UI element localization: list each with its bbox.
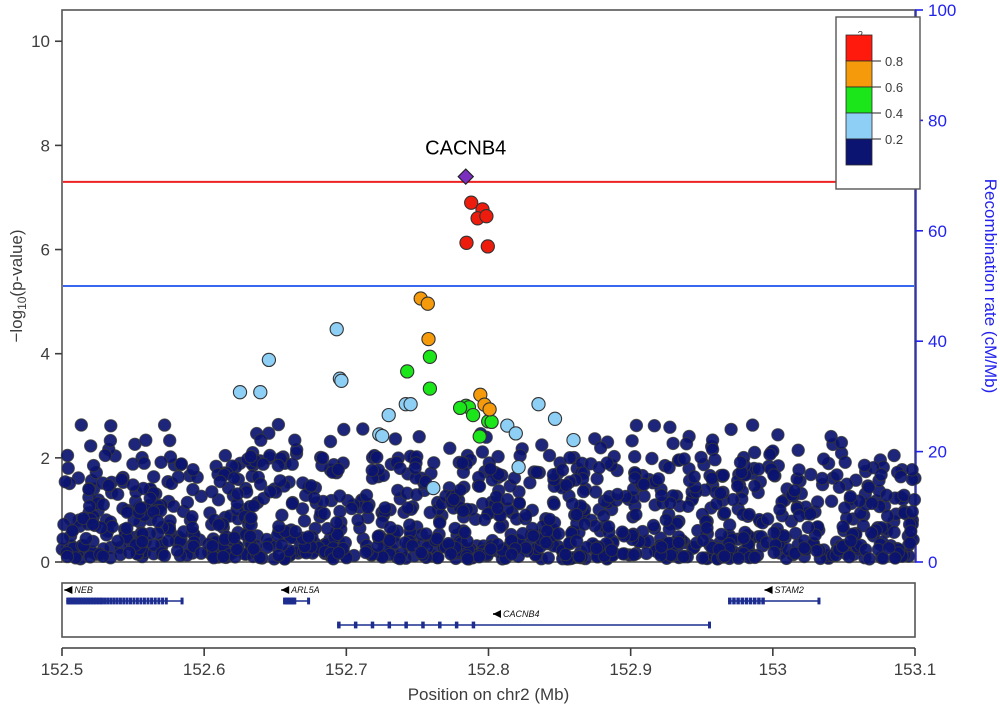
snp-point-background [630, 419, 642, 431]
legend-swatch[interactable] [846, 35, 872, 61]
snp-point-background [155, 456, 167, 468]
snp-point-background [389, 433, 401, 445]
snp-point-background [478, 513, 490, 525]
snp-point-background [858, 459, 870, 471]
snp-point-background [749, 551, 761, 563]
snp-point-background [717, 469, 729, 481]
snp-point-background [595, 442, 607, 454]
snp-point-background [564, 452, 576, 464]
legend-swatch[interactable] [846, 139, 872, 165]
snp-point-background [905, 525, 917, 537]
legend-swatch[interactable] [846, 61, 872, 87]
snp-point-background [434, 517, 446, 529]
snp-point-background [593, 462, 605, 474]
snp-point-background [257, 458, 269, 470]
snp-point [422, 333, 435, 346]
legend: r20.80.60.40.2 [836, 17, 920, 189]
gene-exon [126, 598, 129, 605]
snp-point-background [228, 532, 240, 544]
snp-point-background [802, 521, 814, 533]
snp-point-background [682, 500, 694, 512]
snp-point-background [542, 552, 554, 564]
snp-point-background [83, 483, 95, 495]
snp-point [335, 374, 348, 387]
snp-point-background [152, 515, 164, 527]
y2-tick-label: 100 [928, 1, 956, 20]
snp-point-background [332, 547, 344, 559]
snp-point [512, 461, 525, 474]
snp-point-background [424, 506, 436, 518]
snp-point-background [461, 553, 473, 565]
legend-swatch[interactable] [846, 113, 872, 139]
snp-point-background [127, 479, 139, 491]
snp-point-background [655, 541, 667, 553]
snp-point-background [231, 488, 243, 500]
snp-point-background [629, 451, 641, 463]
snp-point-background [667, 437, 679, 449]
gene-exon [293, 598, 297, 605]
snp-point-background [603, 521, 615, 533]
snp-point-background [334, 490, 346, 502]
snp-point-background [865, 527, 877, 539]
snp-point [376, 429, 389, 442]
snp-point-background [158, 550, 170, 562]
snp-point-background [513, 497, 525, 509]
legend-bin-label: 0.4 [885, 106, 903, 121]
snp-point-background [276, 509, 288, 521]
snp-point-background [394, 462, 406, 474]
snp-point-background [384, 521, 396, 533]
snp-point-background [136, 536, 148, 548]
snp-point-background [706, 472, 718, 484]
snp-point-background [372, 530, 384, 542]
x-tick-label: 152.7 [325, 660, 368, 679]
snp-point-background [415, 546, 427, 558]
snp-point-background [647, 519, 659, 531]
snp-point [427, 482, 440, 495]
snp-point-background [590, 486, 602, 498]
snp-point-background [144, 492, 156, 504]
y2-tick-label: 60 [928, 222, 947, 241]
gene-exon [122, 598, 125, 605]
snp-point-background [839, 502, 851, 514]
gene-exon [154, 598, 157, 605]
gene-name-label: CACNB4 [503, 609, 540, 619]
gene-exon [109, 598, 112, 605]
x-tick-label: 153 [759, 660, 787, 679]
y2-tick-label: 80 [928, 111, 947, 130]
snp-point-background [445, 548, 457, 560]
snp-point-background [548, 498, 560, 510]
snp-point-background [213, 519, 225, 531]
snp-point-background [357, 423, 369, 435]
x-tick-label: 152.6 [183, 660, 226, 679]
snp-point-background [839, 456, 851, 468]
snp-point-background [371, 451, 383, 463]
snp-point-background [746, 419, 758, 431]
snp-point-background [605, 544, 617, 556]
snp-point-background [825, 495, 837, 507]
snp-point-background [734, 456, 746, 468]
snp-point-background [62, 462, 74, 474]
snp-point [254, 386, 267, 399]
snp-point-background [338, 423, 350, 435]
snp-point-background [663, 461, 675, 473]
snp-point [548, 412, 561, 425]
gene-exon [736, 598, 740, 605]
snp-point-background [559, 548, 571, 560]
gene-exon [150, 598, 153, 605]
snp-point-background [112, 535, 124, 547]
gene-exon [307, 598, 310, 605]
gene-exon [472, 622, 476, 629]
snp-point-background [102, 479, 114, 491]
snp-point-background [379, 502, 391, 514]
snp-point-background [476, 446, 488, 458]
snp-point-background [541, 525, 553, 537]
plot-svg: 0246810−log10(p-value)020406080100Recomb… [0, 0, 1000, 705]
snp-point-background [148, 471, 160, 483]
x-axis: 152.5152.6152.7152.8152.9153153.1Positio… [41, 648, 937, 704]
snp-point-background [123, 546, 135, 558]
snp-point-background [332, 463, 344, 475]
snp-point-background [404, 519, 416, 531]
gene-exon [761, 598, 765, 605]
snp-point-background [648, 420, 660, 432]
snp-point [382, 409, 395, 422]
snp-point-background [324, 435, 336, 447]
snp-point-background [701, 522, 713, 534]
snp-point-background [187, 483, 199, 495]
gene-exon [106, 598, 109, 605]
snp-point-background [906, 464, 918, 476]
snp-point-background [514, 450, 526, 462]
snp-point-background [121, 506, 133, 518]
snp-point-background [75, 419, 87, 431]
snp-point-background [680, 438, 692, 450]
snp-point-background [696, 552, 708, 564]
gene-exon [388, 622, 392, 629]
gene-exon [129, 598, 132, 605]
gene-exon [745, 598, 749, 605]
x-tick-label: 152.5 [41, 660, 84, 679]
snp-point-background [459, 526, 471, 538]
snp-point-background [552, 528, 564, 540]
snp-point-background [457, 505, 469, 517]
gene-exon [143, 598, 146, 605]
gene-exon [371, 622, 375, 629]
gene-exon [354, 622, 358, 629]
snp-point-background [774, 503, 786, 515]
snp-point-background [272, 459, 284, 471]
snp-point-background [366, 464, 378, 476]
gene-exon [749, 598, 753, 605]
gene-name-label: STAM2 [775, 585, 804, 595]
snp-point-background [752, 463, 764, 475]
snp-point-background [837, 521, 849, 533]
gene-exon [100, 598, 103, 605]
snp-point-background [171, 545, 183, 557]
legend-bin-label: 0.2 [885, 132, 903, 147]
snp-point-background [560, 479, 572, 491]
snp-point-background [473, 551, 485, 563]
snp-point-background [448, 493, 460, 505]
snp-point-background [181, 496, 193, 508]
x-tick-label: 152.8 [467, 660, 510, 679]
snp-point-background [743, 508, 755, 520]
snp-point-background [793, 510, 805, 522]
gene-exon [161, 598, 164, 605]
x-axis-label: Position on chr2 (Mb) [408, 685, 570, 704]
gene-exon [139, 598, 142, 605]
gene-name-label: ARL5A [290, 585, 320, 595]
snp-point-background [688, 471, 700, 483]
snp-point-background [863, 481, 875, 493]
snp-point-background [85, 440, 97, 452]
snp-point-background [298, 515, 310, 527]
snp-point-background [906, 506, 918, 518]
snp-point-background [908, 494, 920, 506]
snp-point-background [543, 513, 555, 525]
snp-point-background [289, 434, 301, 446]
snp-point-background [305, 480, 317, 492]
gene-track-panel: NEBARL5ACACNB4STAM2 [62, 583, 915, 637]
snp-point-background [816, 472, 828, 484]
gene-exon [116, 598, 119, 605]
gene-exon [157, 598, 160, 605]
snp-point-background [134, 502, 146, 514]
snp-point [423, 350, 436, 363]
snp-point-background [59, 476, 71, 488]
snp-point-background [245, 450, 257, 462]
snp-point-background [664, 421, 676, 433]
snp-point-background [104, 434, 116, 446]
snp-point-background [302, 531, 314, 543]
snp-point [233, 386, 246, 399]
snp-point-background [162, 535, 174, 547]
snp-point-background [272, 549, 284, 561]
snp-point-background [273, 520, 285, 532]
snp-point-background [272, 418, 284, 430]
snp-point-background [768, 469, 780, 481]
snp-point-background [138, 457, 150, 469]
snp-point-background [749, 480, 761, 492]
gene-exon [708, 622, 711, 629]
snp-point-background [428, 457, 440, 469]
snp-point-background [793, 464, 805, 476]
snp-point-background [87, 459, 99, 471]
snp-point-background [97, 498, 109, 510]
snp-point-background [186, 522, 198, 534]
snp-point [454, 401, 467, 414]
snp-point-background [695, 451, 707, 463]
snp-point-background [845, 535, 857, 547]
snp-point-background [473, 480, 485, 492]
snp-point-background [187, 464, 199, 476]
snp-point [480, 210, 493, 223]
gene-exon [112, 598, 115, 605]
snp-point-background [345, 502, 357, 514]
snp-point-background [737, 532, 749, 544]
snp-point-background [352, 514, 364, 526]
snp-point-background [880, 489, 892, 501]
gene-exon [404, 622, 408, 629]
y-axis-left: 0246810 [31, 32, 62, 572]
snp-point-background [318, 508, 330, 520]
y-tick-label: 8 [41, 136, 50, 155]
snp-point-background [121, 522, 133, 534]
snp-point-background [248, 500, 260, 512]
snp-point-background [889, 552, 901, 564]
snp-point-background [626, 435, 638, 447]
gene-exon [732, 598, 736, 605]
snp-point-background [66, 525, 78, 537]
snp-point-background [490, 491, 502, 503]
snp-point-background [217, 551, 229, 563]
snp-point-background [99, 449, 111, 461]
snp-point-background [660, 514, 672, 526]
snp-point-background [331, 516, 343, 528]
snp-point-background [248, 543, 260, 555]
snp-point-background [788, 484, 800, 496]
legend-bin-label: 0.6 [885, 80, 903, 95]
snp-point [567, 434, 580, 447]
snp-point-background [87, 518, 99, 530]
snp-point-background [384, 534, 396, 546]
snp-point-background [527, 530, 539, 542]
y2-tick-label: 20 [928, 443, 947, 462]
snp-point-background [835, 436, 847, 448]
snp-point-background [413, 431, 425, 443]
lead-snp-label: CACNB4 [425, 138, 506, 160]
snp-point-background [611, 488, 623, 500]
legend-bin-label: 0.8 [885, 54, 903, 69]
snp-point-background [638, 478, 650, 490]
y-axis-right: 020406080100Recombination rate (cM/Mb) [915, 1, 1000, 572]
snp-point-background [630, 508, 642, 520]
snp-point-background [833, 481, 845, 493]
snp-point-background [116, 473, 128, 485]
snp-point-background [80, 532, 92, 544]
snp-point-background [492, 502, 504, 514]
snp-point-background [866, 497, 878, 509]
snp-point-background [677, 551, 689, 563]
y-tick-label: 0 [41, 553, 50, 572]
snp-point-background [360, 489, 372, 501]
y2-axis-label: Recombination rate (cM/Mb) [981, 179, 1000, 393]
y2-tick-label: 0 [928, 553, 937, 572]
snp-point-background [655, 489, 667, 501]
snp-point-background [164, 434, 176, 446]
snp-point-background [409, 462, 421, 474]
snp-point-background [244, 530, 256, 542]
snp-point-background [818, 453, 830, 465]
snp-point-background [577, 485, 589, 497]
gene-exon [165, 598, 168, 605]
snp-point-background [264, 486, 276, 498]
snp-point-background [888, 449, 900, 461]
locuszoom-plot: 0246810−log10(p-value)020406080100Recomb… [0, 0, 1000, 705]
y-axis-label: −log10(p-value) [7, 229, 29, 342]
snp-point [460, 236, 473, 249]
snp-point-background [206, 486, 218, 498]
snp-point-background [725, 423, 737, 435]
snp-point-background [175, 458, 187, 470]
snp-point-background [158, 419, 170, 431]
snp-point-background [494, 521, 506, 533]
snp-point [485, 415, 498, 428]
x-tick-label: 153.1 [894, 660, 937, 679]
gene-exon [103, 598, 106, 605]
legend-swatch[interactable] [846, 87, 872, 113]
snp-point-background [732, 552, 744, 564]
snp-point-background [456, 457, 468, 469]
snp-point-background [714, 487, 726, 499]
snp-point-background [334, 505, 346, 517]
snp-point-background [831, 469, 843, 481]
y-tick-label: 10 [31, 32, 50, 51]
snp-point-background [245, 512, 257, 524]
snp-point-background [638, 490, 650, 502]
snp-point-background [485, 543, 497, 555]
snp-point-background [591, 473, 603, 485]
snp-point-background [764, 448, 776, 460]
snp-point-background [590, 542, 602, 554]
snp-point-background [768, 546, 780, 558]
gene-exon [817, 598, 820, 605]
snp-point-background [762, 513, 774, 525]
gene-exon [136, 598, 139, 605]
gene-exon [132, 598, 135, 605]
snp-point [467, 409, 480, 422]
snp-point-background [274, 475, 286, 487]
snp-point-background [61, 449, 73, 461]
gene-exon [455, 622, 459, 629]
snp-point [483, 403, 496, 416]
snp-point-background [709, 454, 721, 466]
gene-exon [337, 622, 341, 629]
snp-point-background [543, 449, 555, 461]
snp-point-background [652, 473, 664, 485]
gene-exon [119, 598, 122, 605]
snp-point-background [520, 509, 532, 521]
snp-point-background [106, 520, 118, 532]
snp-point-background [286, 458, 298, 470]
snp-point-background [804, 508, 816, 520]
snp-point-background [811, 496, 823, 508]
gene-name-label: NEB [74, 585, 93, 595]
gene-exon [757, 598, 761, 605]
snp-point-background [536, 439, 548, 451]
snp-point [473, 430, 486, 443]
snp-point-background [308, 492, 320, 504]
gene-exon [438, 622, 442, 629]
snp-point-background [718, 550, 730, 562]
snp-point-background [402, 502, 414, 514]
snp-point-background [362, 501, 374, 513]
x-tick-label: 152.9 [609, 660, 652, 679]
y-tick-label: 2 [41, 449, 50, 468]
snp-point [401, 365, 414, 378]
snp-point [481, 240, 494, 253]
snp-point-background [811, 545, 823, 557]
snp-point-background [140, 434, 152, 446]
snp-point-background [768, 527, 780, 539]
snp-point-background [616, 526, 628, 538]
y-tick-label: 6 [41, 241, 50, 260]
snp-point-background [732, 480, 744, 492]
snp-point-background [531, 466, 543, 478]
